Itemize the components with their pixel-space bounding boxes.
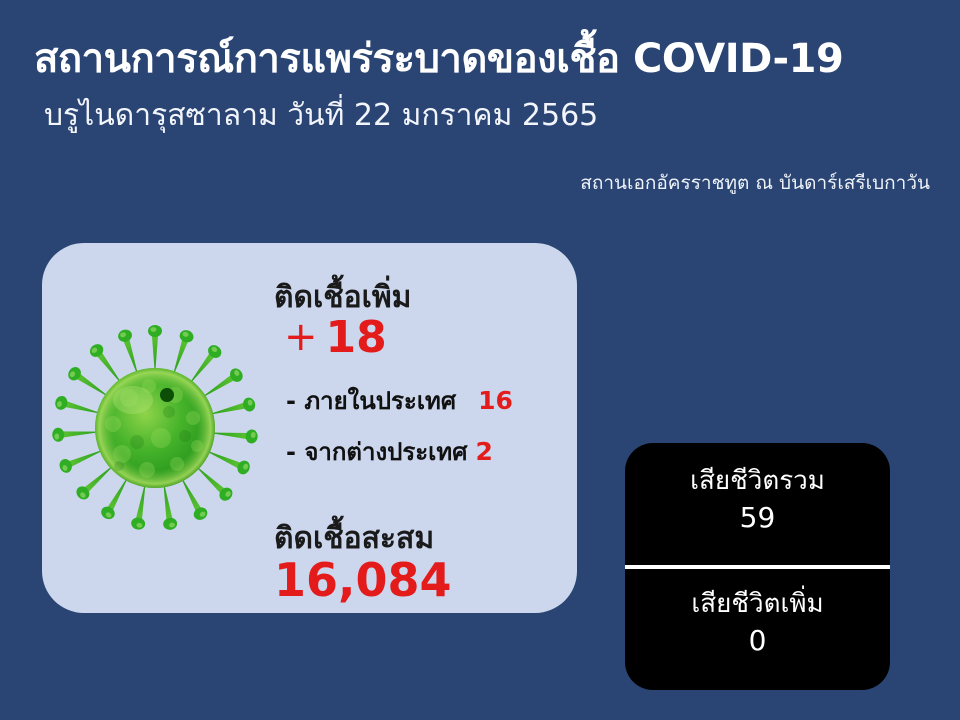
deaths-divider	[625, 565, 890, 569]
deaths-total-section: เสียชีวิตรวม 59	[625, 465, 890, 538]
report-date-subtitle: บรูไนดารุสซาลาม วันที่ 22 มกราคม 2565	[44, 98, 844, 134]
deaths-new-section: เสียชีวิตเพิ่ม 0	[625, 588, 890, 661]
cumulative-cases-value: 16,084	[274, 557, 452, 603]
deaths-new-value: 0	[625, 621, 890, 662]
breakdown-label-imported: - จากต่างประเทศ	[286, 438, 467, 466]
breakdown-row-local: - ภายในประเทศ16	[286, 381, 513, 420]
deaths-new-label: เสียชีวิตเพิ่ม	[625, 588, 890, 621]
coronavirus-icon	[52, 292, 262, 547]
new-cases-plus-sign: +	[284, 314, 318, 360]
deaths-total-label: เสียชีวิตรวม	[625, 465, 890, 498]
new-cases-number: 18	[326, 312, 387, 363]
breakdown-row-imported: - จากต่างประเทศ2	[286, 432, 493, 471]
page-title: สถานการณ์การแพร่ระบาดของเชื้อ COVID-19	[34, 36, 914, 82]
deaths-box: เสียชีวิตรวม 59 เสียชีวิตเพิ่ม 0	[625, 443, 890, 690]
breakdown-label-local: - ภายในประเทศ	[286, 387, 456, 415]
breakdown-value-local: 16	[478, 386, 513, 415]
deaths-total-value: 59	[625, 498, 890, 539]
covid-situation-poster: สถานการณ์การแพร่ระบาดของเชื้อ COVID-19 บ…	[0, 0, 960, 720]
breakdown-value-imported: 2	[475, 437, 492, 466]
organization-label: สถานเอกอัครราชทูต ณ บันดาร์เสรีเบกาวัน	[580, 168, 930, 198]
new-cases-value: +18	[284, 316, 387, 360]
